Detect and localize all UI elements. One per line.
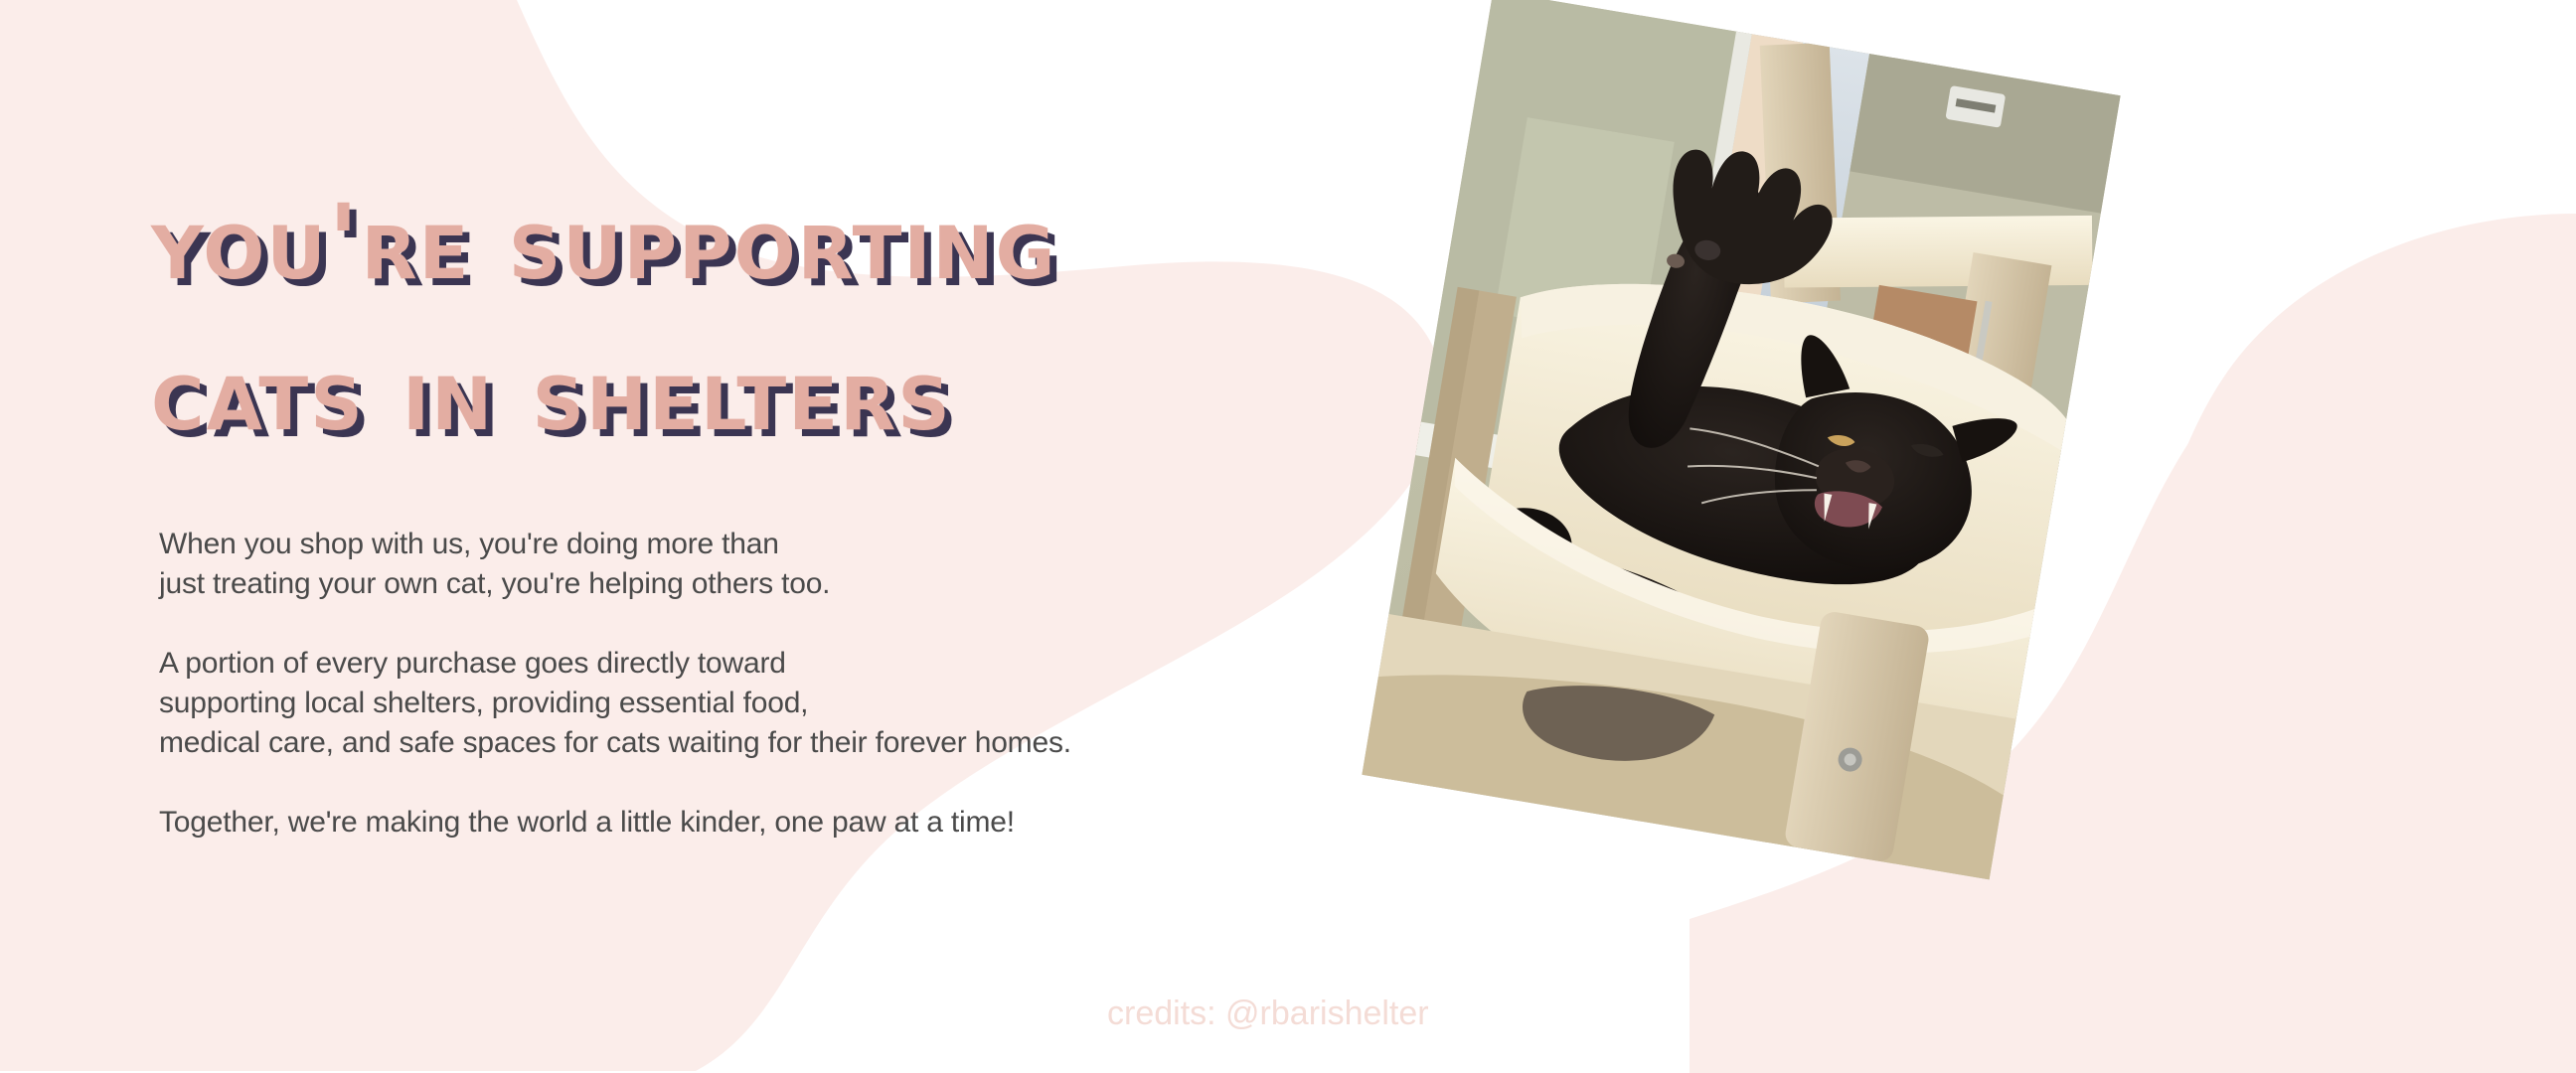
- cat-photo: [1362, 0, 2120, 879]
- paragraph-line: medical care, and safe spaces for cats w…: [159, 723, 1332, 763]
- paragraph-line: just treating your own cat, you're helpi…: [159, 564, 1332, 604]
- paragraph-line: When you shop with us, you're doing more…: [159, 525, 1332, 564]
- page-title: You're Supporting Cats in Shelters: [151, 167, 1294, 469]
- promo-banner: You're Supporting Cats in Shelters When …: [0, 0, 2576, 1073]
- paragraph-line: A portion of every purchase goes directl…: [159, 644, 1332, 684]
- headline-line-2: Cats in Shelters: [151, 318, 1294, 469]
- paragraph-1: When you shop with us, you're doing more…: [159, 525, 1332, 604]
- paragraph-2: A portion of every purchase goes directl…: [159, 644, 1332, 763]
- paragraph-3: Together, we're making the world a littl…: [159, 803, 1332, 843]
- body-copy: When you shop with us, you're doing more…: [159, 525, 1332, 843]
- paragraph-line: supporting local shelters, providing ess…: [159, 684, 1332, 723]
- paragraph-line: Together, we're making the world a littl…: [159, 803, 1332, 843]
- credits-text: credits: @rbarishelter: [1107, 994, 1429, 1033]
- headline-line-1: You're Supporting: [151, 167, 1294, 318]
